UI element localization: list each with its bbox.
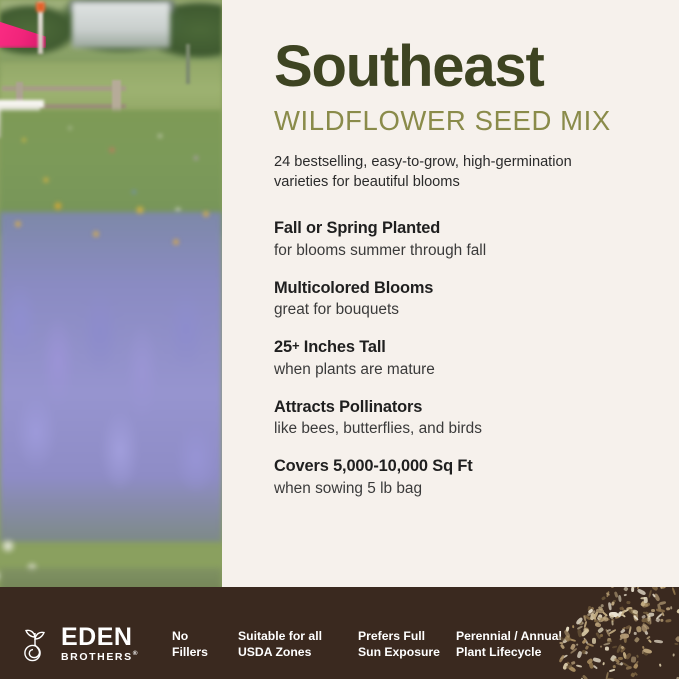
feature-subtitle: for blooms summer through fall — [274, 241, 651, 261]
feature-title: Attracts Pollinators — [274, 397, 651, 418]
footer-bar: EDEN BROTHERS® No Fillers Suitable for a… — [0, 587, 679, 679]
seed-grain — [560, 644, 565, 650]
seed-grain — [559, 654, 565, 662]
seed-grain — [648, 589, 652, 597]
seed-grain — [600, 596, 605, 601]
seed-grain — [627, 600, 631, 604]
seed-grain — [602, 662, 604, 666]
page-subtitle: WILDFLOWER SEED MIX — [274, 105, 651, 137]
seed-grain — [659, 663, 661, 666]
seed-grain — [655, 618, 660, 623]
seed-grain — [592, 657, 600, 663]
seed-grain — [611, 587, 614, 588]
feature-list: Fall or Spring Planted for blooms summer… — [274, 218, 651, 499]
seed-grain — [594, 622, 601, 627]
footer-badge-usda-zones: Suitable for all USDA Zones — [238, 628, 358, 660]
seed-grain — [601, 604, 604, 608]
yellow-coneflowers — [0, 190, 222, 276]
footer-badge-sun-exposure: Prefers Full Sun Exposure — [358, 628, 456, 660]
feature-item: Multicolored Blooms great for bouquets — [274, 278, 651, 321]
seed-grain — [619, 634, 628, 639]
seed-grain — [597, 626, 604, 633]
feature-item: Fall or Spring Planted for blooms summer… — [274, 218, 651, 261]
logo-eden-text: EDEN — [61, 625, 139, 650]
seed-grain — [631, 587, 634, 592]
seed-grain — [584, 645, 588, 650]
seed-grain — [584, 628, 589, 633]
seed-grain — [600, 633, 603, 636]
seed-grain — [575, 664, 581, 668]
seed-grain — [665, 619, 672, 623]
seed-grain — [655, 608, 664, 612]
feature-title: Covers 5,000-10,000 Sq Ft — [274, 456, 651, 477]
footer-badge-no-fillers: No Fillers — [172, 628, 238, 660]
feature-subtitle: like bees, butterflies, and birds — [274, 419, 651, 439]
feature-title: Fall or Spring Planted — [274, 218, 651, 239]
feature-subtitle: when plants are mature — [274, 360, 651, 380]
logo-wordmark: EDEN BROTHERS® — [61, 625, 139, 663]
seed-grain — [674, 643, 679, 646]
fence-post-far — [186, 44, 190, 84]
sprout-seed-icon — [18, 626, 52, 662]
feature-subtitle: when sowing 5 lb bag — [274, 479, 651, 499]
seed-grain — [605, 646, 609, 650]
feature-subtitle: great for bouquets — [274, 300, 651, 320]
page-title: Southeast — [274, 38, 651, 96]
seed-grain — [618, 594, 622, 602]
seed-grain — [576, 644, 579, 647]
seed-grain — [592, 637, 596, 643]
seed-grain — [624, 593, 627, 596]
feature-title: 25+ Inches Tall — [274, 337, 651, 358]
seed-grain — [644, 597, 648, 603]
seed-mix-texture — [555, 587, 679, 679]
seed-grain — [637, 589, 647, 597]
seed-grain — [634, 632, 637, 635]
seed-grain — [571, 661, 575, 665]
seed-grain — [665, 606, 669, 610]
product-info-card: Southeast WILDFLOWER SEED MIX 24 bestsel… — [0, 0, 679, 679]
eden-brothers-logo[interactable]: EDEN BROTHERS® — [18, 625, 158, 663]
feature-title: Multicolored Blooms — [274, 278, 651, 299]
feature-item: Attracts Pollinators like bees, butterfl… — [274, 397, 651, 440]
seed-grain — [623, 587, 628, 592]
seed-grain — [572, 625, 575, 628]
seed-grain — [648, 639, 652, 643]
feature-item: 25+ Inches Tall when plants are mature — [274, 337, 651, 380]
seed-grain — [600, 646, 603, 648]
seed-grain — [557, 636, 565, 641]
product-description: 24 bestselling, easy-to-grow, high-germi… — [274, 152, 624, 193]
seed-grain — [613, 664, 616, 667]
seed-grain — [670, 606, 672, 609]
seed-grain — [651, 587, 658, 591]
seed-grain — [634, 637, 640, 643]
seed-grain — [609, 669, 615, 672]
seed-grain — [673, 654, 675, 657]
seed-grain — [654, 639, 663, 643]
seed-grain — [606, 640, 611, 643]
logo-brothers-text: BROTHERS® — [61, 651, 139, 663]
post-top-marker — [36, 2, 45, 12]
content-panel: Southeast WILDFLOWER SEED MIX 24 bestsel… — [222, 0, 679, 612]
seed-grain — [671, 587, 675, 595]
barn-building — [72, 2, 170, 48]
seed-grain — [577, 651, 583, 659]
feature-item: Covers 5,000-10,000 Sq Ft when sowing 5 … — [274, 456, 651, 499]
wildflower-meadow-photo — [0, 0, 222, 612]
seed-grain — [618, 657, 623, 660]
